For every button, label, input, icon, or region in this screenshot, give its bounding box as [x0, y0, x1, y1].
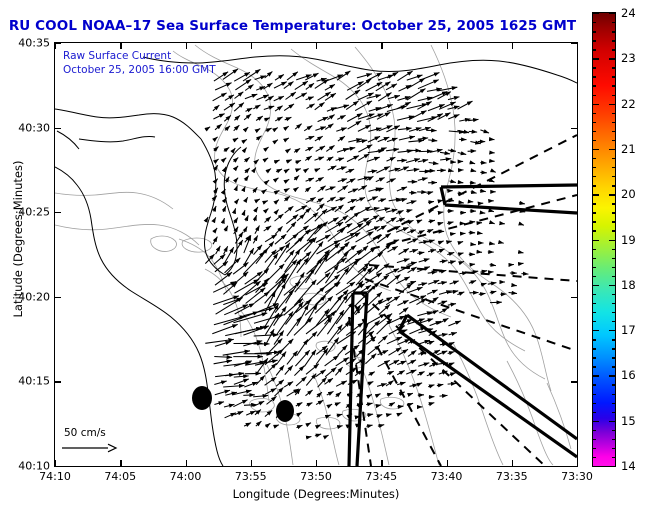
y-axis-tick: [571, 212, 577, 213]
current-vector: [358, 186, 367, 191]
colorbar-minor-tick: [612, 158, 616, 159]
current-vector: [399, 249, 409, 255]
x-axis-tick: [577, 43, 578, 49]
current-vector: [297, 425, 303, 427]
current-vector: [235, 279, 260, 293]
current-vector: [427, 341, 434, 344]
current-vector: [317, 78, 327, 81]
current-vector: [235, 92, 244, 99]
current-vector: [471, 264, 476, 265]
current-vector: [480, 191, 486, 192]
current-vector: [325, 435, 329, 437]
current-vector: [244, 235, 251, 253]
current-vector-field: [205, 69, 528, 438]
current-vector: [440, 152, 450, 154]
current-vector: [520, 263, 524, 264]
current-vector: [223, 386, 244, 388]
current-vector: [265, 235, 277, 242]
figure-title: RU COOL NOAA–17 Sea Surface Temperature:…: [0, 18, 585, 34]
current-vector: [264, 158, 268, 161]
current-vector: [213, 93, 227, 101]
y-axis-tick: [571, 381, 577, 382]
current-vector: [437, 351, 447, 355]
current-vector: [386, 209, 397, 212]
colorbar-tick-label: 16: [621, 368, 636, 382]
current-vector: [328, 166, 337, 170]
current-vector: [386, 217, 396, 223]
current-vector: [306, 390, 313, 396]
current-vector: [265, 349, 284, 365]
current-vector: [265, 201, 268, 203]
y-axis-tick: [55, 297, 61, 298]
colorbar-tick: [609, 466, 616, 467]
colorbar-tick-label: 22: [621, 97, 636, 111]
current-vector: [325, 378, 333, 384]
current-vector: [214, 357, 232, 358]
current-vector: [275, 75, 284, 81]
current-vector: [386, 269, 399, 275]
current-vector: [223, 218, 225, 223]
station-marker-2: [276, 400, 294, 422]
colorbar-tick: [609, 240, 616, 241]
current-vector: [417, 383, 422, 385]
current-vector: [345, 212, 359, 223]
current-vector: [275, 178, 278, 181]
current-vector: [438, 223, 444, 225]
current-vector: [287, 351, 298, 365]
current-vector: [244, 382, 257, 387]
current-vector: [328, 325, 343, 344]
current-vector: [418, 160, 428, 162]
current-vector: [275, 214, 284, 221]
current-vector: [214, 254, 225, 264]
current-vector: [345, 245, 356, 253]
colorbar-minor-tick: [592, 140, 596, 141]
colorbar-minor-tick: [612, 448, 616, 449]
colorbar-minor-tick: [592, 76, 596, 77]
current-vector: [297, 339, 308, 355]
current-vector: [226, 177, 229, 183]
colorbar-minor-tick: [612, 276, 616, 277]
current-vector: [294, 176, 299, 180]
current-vector: [397, 187, 407, 191]
current-vector: [215, 124, 222, 130]
current-vector: [213, 114, 224, 119]
current-vector: [398, 128, 412, 130]
coastline: [55, 56, 577, 466]
current-vector: [428, 272, 437, 273]
current-vector: [406, 150, 420, 151]
current-vector: [490, 291, 497, 293]
colorbar-tick-label: 14: [621, 459, 636, 473]
current-vector: [306, 83, 314, 89]
colorbar-minor-tick: [612, 22, 616, 23]
current-vector: [318, 186, 326, 192]
current-vector: [246, 411, 255, 415]
y-axis-tick: [55, 466, 61, 467]
current-vector: [367, 414, 373, 415]
current-vector: [429, 397, 435, 398]
current-vector: [428, 202, 434, 203]
current-vector: [276, 169, 282, 172]
current-vector: [366, 425, 372, 426]
current-vector: [427, 229, 433, 231]
current-vector: [358, 125, 371, 131]
current-vector: [215, 390, 230, 395]
current-vector: [223, 351, 250, 355]
current-vector: [223, 206, 226, 212]
current-vector: [338, 136, 345, 141]
current-vector: [285, 206, 294, 213]
current-vector: [214, 361, 232, 364]
colorbar-minor-tick: [592, 230, 596, 231]
current-vector: [295, 124, 301, 129]
current-vector: [285, 259, 301, 284]
colorbar-minor-tick: [592, 212, 596, 213]
current-vector: [316, 348, 328, 364]
current-vector: [224, 246, 228, 254]
current-vector: [448, 352, 455, 354]
current-vector: [490, 265, 496, 266]
colorbar-tick: [592, 58, 599, 59]
colorbar-minor-tick: [592, 22, 596, 23]
x-axis-tick: [577, 460, 578, 466]
colorbar-tick: [609, 13, 616, 14]
x-tick-label: 73:55: [235, 470, 267, 483]
current-vector: [438, 282, 447, 284]
current-vector: [336, 128, 346, 131]
x-tick-label: 73:35: [496, 470, 528, 483]
current-vector: [397, 300, 408, 305]
current-vector: [450, 233, 455, 234]
current-vector: [213, 105, 219, 111]
current-vector: [469, 222, 475, 223]
current-vector: [471, 192, 477, 193]
vector-scale-key: 50 cm/s: [60, 427, 118, 458]
current-vector: [244, 148, 247, 152]
colorbar-tick: [609, 194, 616, 195]
current-vector: [275, 200, 279, 204]
current-vector: [223, 158, 227, 161]
current-vector: [378, 199, 386, 201]
colorbar-minor-tick: [612, 40, 616, 41]
current-vector: [245, 176, 249, 181]
current-vector: [224, 147, 229, 151]
current-vector: [336, 392, 341, 397]
current-vector: [212, 324, 237, 333]
colorbar-minor-tick: [592, 439, 596, 440]
y-axis-label: Latitude (Degrees:Minutes): [11, 139, 25, 339]
colorbar-tick: [592, 330, 599, 331]
current-vector: [325, 356, 339, 366]
colorbar-tick: [592, 285, 599, 286]
colorbar-minor-tick: [592, 403, 596, 404]
current-vector: [256, 116, 263, 120]
current-vector: [306, 374, 316, 386]
map-canvas: [55, 43, 577, 466]
current-vector: [397, 382, 405, 384]
current-vector: [236, 185, 238, 190]
colorbar-minor-tick: [612, 303, 616, 304]
colorbar-tick-label: 15: [621, 414, 636, 428]
current-vector: [255, 207, 258, 212]
colorbar-minor-tick: [612, 113, 616, 114]
current-vector: [266, 363, 277, 374]
current-vector: [304, 350, 316, 367]
colorbar-minor-tick: [592, 122, 596, 123]
current-vector: [337, 115, 345, 119]
current-vector: [214, 381, 226, 385]
current-vector: [295, 81, 308, 89]
current-vector: [265, 250, 276, 263]
current-vector: [255, 226, 260, 234]
current-vector: [438, 212, 443, 213]
current-vector: [336, 358, 349, 366]
current-vector: [439, 308, 447, 313]
colorbar-minor-tick: [592, 430, 596, 431]
current-vector: [346, 323, 363, 336]
current-vector: [286, 160, 291, 162]
colorbar-minor-tick: [612, 366, 616, 367]
current-vector: [327, 157, 334, 161]
current-vector: [327, 115, 334, 120]
current-vector: [488, 272, 493, 273]
current-vector: [284, 138, 289, 141]
station-marker-1: [192, 386, 212, 410]
x-axis-tick: [512, 43, 513, 49]
current-vector: [274, 96, 284, 101]
current-vector: [376, 178, 385, 182]
current-vector: [397, 361, 406, 365]
y-tick-label: 40:15: [0, 375, 50, 388]
current-vector: [512, 285, 517, 286]
current-vector: [318, 92, 331, 100]
current-vector: [418, 178, 428, 181]
current-vector: [287, 72, 298, 80]
current-vector: [409, 111, 427, 120]
current-vector: [243, 252, 264, 274]
current-vector: [276, 260, 297, 284]
colorbar-minor-tick: [612, 403, 616, 404]
current-vector: [338, 179, 347, 182]
current-vector: [377, 112, 390, 119]
current-vector: [265, 147, 269, 150]
right-arrow-icon: [60, 441, 118, 455]
colorbar-minor-tick: [612, 95, 616, 96]
current-vector: [479, 233, 483, 234]
current-vector: [254, 215, 256, 221]
colorbar-minor-tick: [612, 140, 616, 141]
current-vector: [225, 373, 244, 376]
current-vector: [419, 259, 430, 262]
y-tick-label: 40:35: [0, 37, 50, 50]
current-vector: [347, 113, 362, 121]
current-vector: [367, 114, 384, 120]
current-vector: [399, 85, 412, 91]
current-vector: [275, 226, 282, 234]
current-vector: [519, 203, 525, 204]
colorbar-minor-tick: [612, 357, 616, 358]
current-vector: [246, 215, 249, 221]
current-vector: [387, 157, 396, 161]
colorbar-minor-tick: [592, 412, 596, 413]
x-axis-tick: [381, 460, 382, 466]
current-vector: [326, 338, 339, 356]
current-vector: [348, 189, 358, 193]
x-axis-label: Longitude (Degrees:Minutes): [54, 487, 578, 501]
colorbar-minor-tick: [612, 394, 616, 395]
current-vector: [205, 127, 210, 130]
current-vector: [388, 246, 398, 252]
current-vector: [307, 104, 315, 109]
colorbar-minor-tick: [592, 312, 596, 313]
colorbar-minor-tick: [612, 294, 616, 295]
plot-area: Raw Surface Current October 25, 2005 16:…: [54, 42, 578, 467]
current-vector: [213, 237, 217, 245]
current-vector: [265, 388, 276, 394]
current-vector: [397, 371, 404, 375]
current-vector: [296, 93, 307, 99]
current-vector: [234, 361, 252, 366]
current-vector: [286, 188, 289, 190]
current-vector: [355, 101, 372, 111]
current-vector: [409, 250, 418, 253]
annotation-line-2: October 25, 2005 16:00 GMT: [63, 63, 216, 77]
current-vector: [225, 413, 236, 418]
current-vector: [224, 115, 231, 121]
current-vector: [253, 236, 257, 244]
current-vector: [379, 244, 391, 254]
x-tick-label: 73:45: [365, 470, 397, 483]
current-vector: [406, 210, 412, 212]
current-vector: [224, 247, 234, 264]
current-vector: [438, 301, 448, 304]
current-vector: [244, 423, 251, 426]
colorbar-tick: [592, 194, 599, 195]
current-vector: [450, 373, 456, 375]
colorbar-minor-tick: [592, 339, 596, 340]
current-vector: [440, 159, 451, 160]
colorbar-minor-tick: [592, 113, 596, 114]
current-vector: [264, 226, 271, 231]
colorbar-tick-label: 23: [621, 51, 636, 65]
current-vector: [407, 104, 428, 109]
current-vector: [428, 140, 437, 141]
colorbar-tick: [592, 466, 599, 467]
current-vector: [296, 169, 301, 171]
current-vector: [234, 376, 249, 377]
current-vector: [427, 290, 438, 295]
colorbar-minor-tick: [612, 185, 616, 186]
current-vector: [315, 209, 327, 221]
current-vector: [285, 366, 293, 375]
current-vector: [224, 103, 235, 110]
colorbar-tick: [592, 104, 599, 105]
x-axis-tick: [316, 43, 317, 49]
y-axis-tick: [571, 43, 577, 44]
current-vector: [307, 423, 311, 425]
current-vector: [448, 150, 456, 151]
colorbar-minor-tick: [612, 122, 616, 123]
current-vector: [325, 187, 335, 191]
current-vector: [438, 241, 444, 243]
current-vector: [338, 186, 348, 193]
current-vector: [325, 367, 336, 376]
current-vector: [245, 157, 250, 161]
current-vector: [377, 405, 381, 406]
current-vector: [305, 147, 313, 151]
current-vector: [518, 252, 523, 253]
current-vector: [284, 104, 294, 111]
current-vector: [376, 264, 389, 274]
current-vector: [386, 296, 399, 305]
current-vector: [256, 358, 268, 375]
colorbar-minor-tick: [592, 394, 596, 395]
current-vector: [295, 187, 299, 190]
current-vector: [274, 128, 278, 131]
colorbar-minor-tick: [592, 249, 596, 250]
current-vector: [368, 252, 383, 262]
x-axis-tick: [186, 460, 187, 466]
current-vector: [275, 140, 278, 142]
current-vector: [214, 402, 224, 405]
current-vector: [407, 360, 416, 364]
colorbar-minor-tick: [612, 412, 616, 413]
current-vector: [296, 377, 306, 386]
current-vector: [417, 252, 424, 253]
colorbar-minor-tick: [592, 384, 596, 385]
current-vector: [366, 314, 385, 325]
current-vector: [235, 178, 238, 181]
current-vector: [234, 125, 240, 131]
colorbar-minor-tick: [592, 348, 596, 349]
colorbar-minor-tick: [592, 40, 596, 41]
current-vector: [367, 197, 377, 202]
current-vector: [448, 170, 453, 171]
current-vector: [437, 384, 443, 385]
current-vector: [318, 117, 329, 122]
x-tick-label: 73:30: [561, 470, 593, 483]
current-vector: [469, 281, 476, 284]
current-vector: [235, 272, 249, 284]
current-vector: [356, 197, 365, 201]
colorbar-minor-tick: [592, 31, 596, 32]
current-vector: [366, 403, 372, 404]
current-vector: [265, 72, 273, 79]
current-vector: [408, 350, 416, 356]
current-vector: [296, 75, 311, 80]
current-vector: [448, 321, 460, 326]
current-vector: [264, 106, 274, 109]
colorbar-minor-tick: [612, 221, 616, 222]
current-vector: [489, 243, 495, 244]
colorbar-minor-tick: [592, 276, 596, 277]
current-vector: [418, 363, 429, 367]
current-vector: [274, 82, 287, 88]
current-vector: [408, 393, 413, 395]
current-vector: [447, 252, 454, 254]
current-vector: [408, 262, 417, 264]
colorbar-tick-label: 21: [621, 142, 636, 156]
current-vector: [376, 82, 391, 91]
current-vector: [479, 293, 486, 294]
current-vector: [367, 157, 380, 161]
colorbar-minor-tick: [592, 267, 596, 268]
current-vector: [448, 304, 456, 306]
colorbar-minor-tick: [592, 321, 596, 322]
current-vector: [419, 151, 433, 152]
current-vector: [418, 230, 425, 233]
